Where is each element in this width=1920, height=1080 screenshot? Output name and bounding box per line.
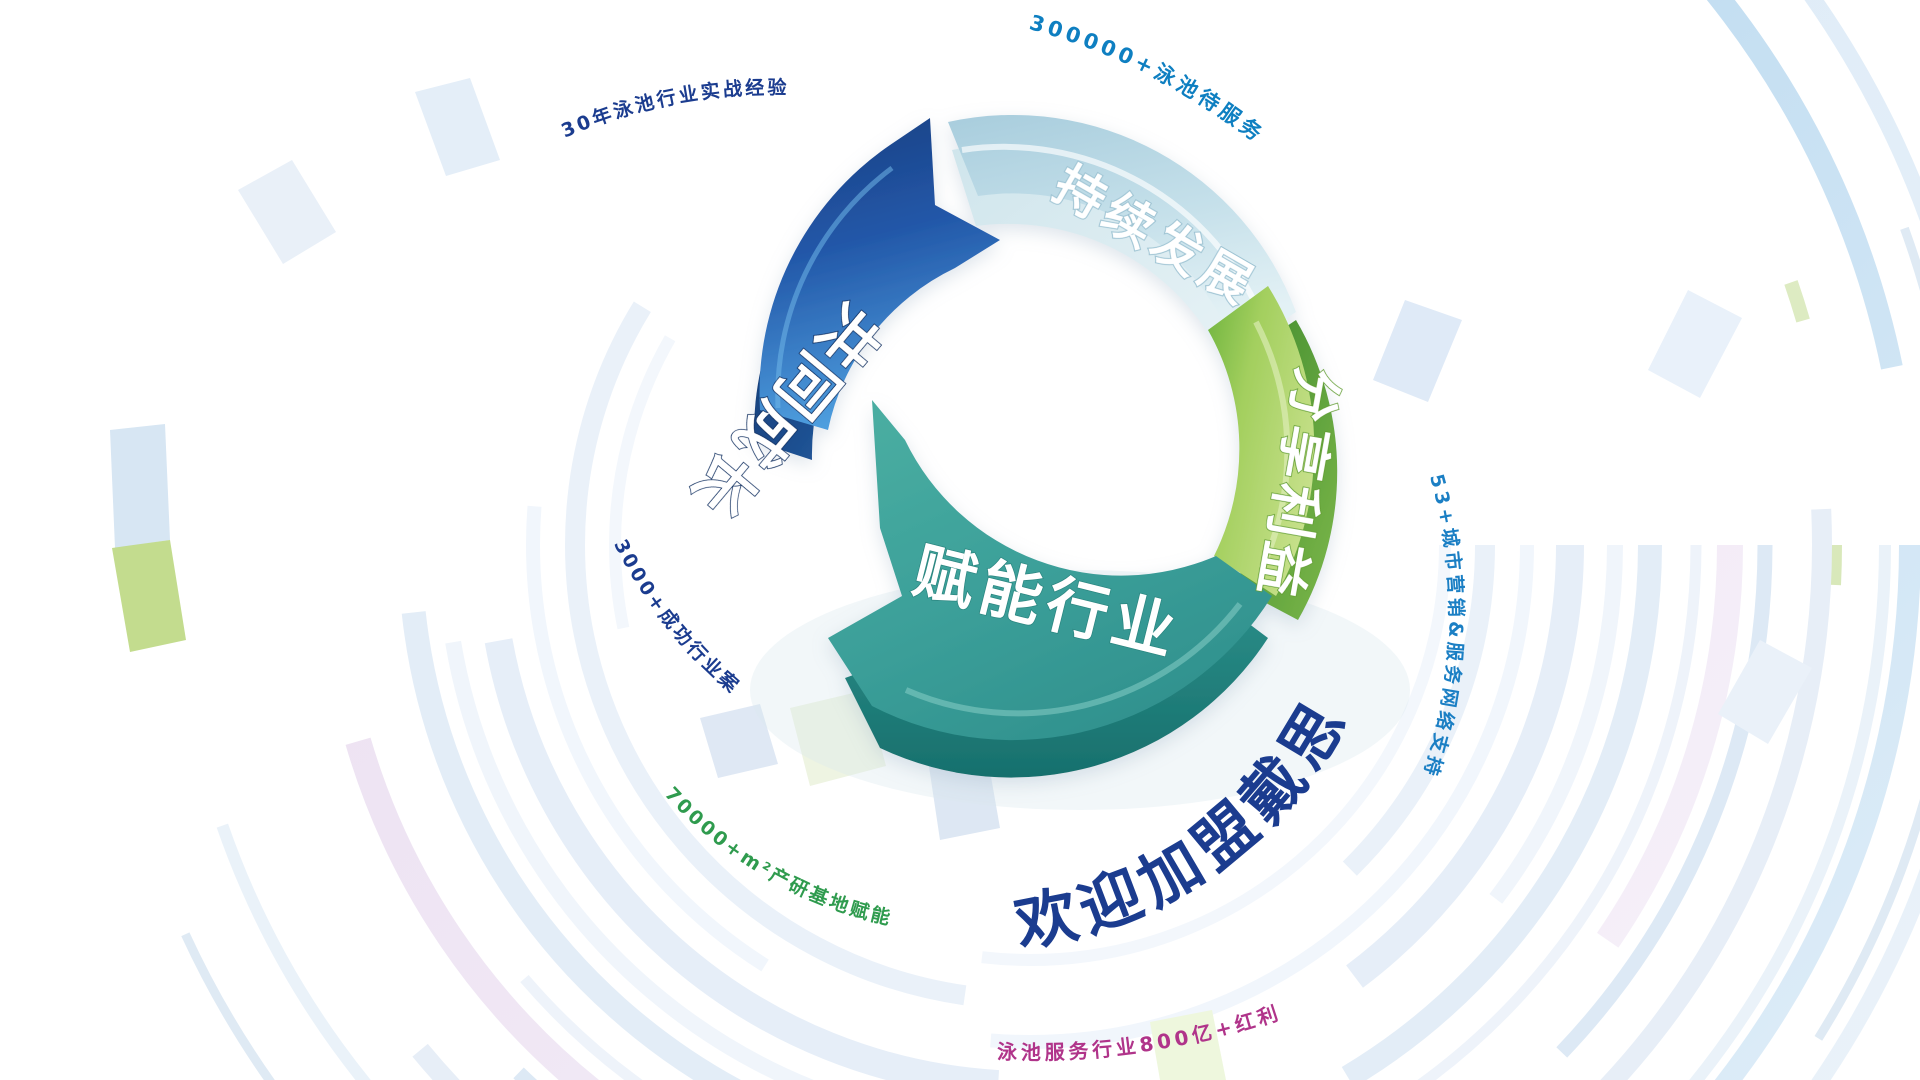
- caption-53-cities: 53+城市营销&服务网络支持: [1418, 472, 1468, 782]
- poster-canvas: 共同成长 持续发展 分享利益 赋能行业 30年泳池行业实战经验 300000+泳…: [0, 0, 1920, 1080]
- caption-800yi: 泳池服务行业800亿+红利: [997, 1000, 1285, 1064]
- caption-70000-m2: 70000+m²产研基地赋能: [660, 783, 895, 930]
- caption-30-years: 30年泳池行业实战经验: [558, 76, 789, 143]
- growth-cycle-ring: 共同成长 持续发展 分享利益 赋能行业 30年泳池行业实战经验 300000+泳…: [0, 0, 1920, 1080]
